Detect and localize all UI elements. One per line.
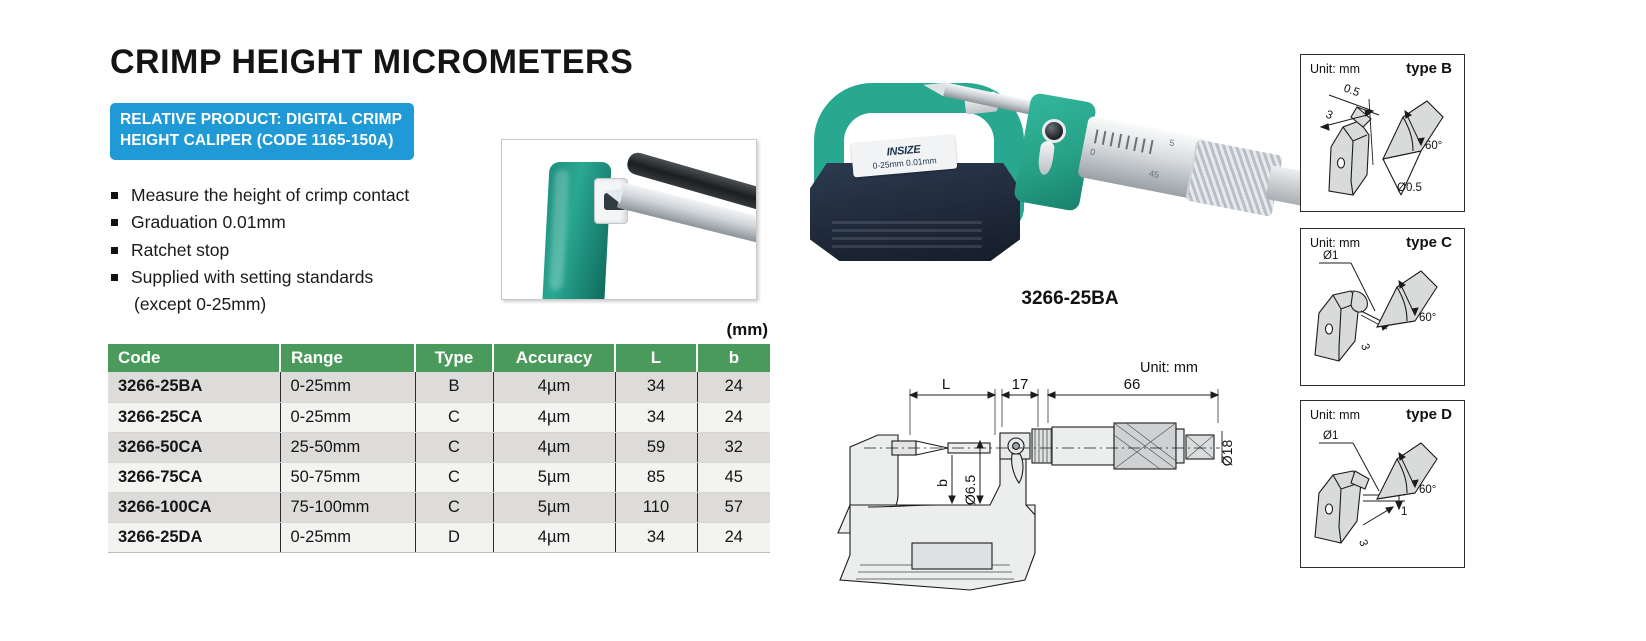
cell-b: 24 bbox=[697, 372, 770, 402]
grip-ridge bbox=[832, 229, 982, 232]
relative-product-badge-line-1: RELATIVE PRODUCT: DIGITAL CRIMP bbox=[120, 110, 402, 131]
table-row: 3266-100CA 75-100mm C 5µm 110 57 bbox=[108, 492, 770, 522]
cell-l: 110 bbox=[615, 492, 697, 522]
dim-label-66: 66 bbox=[1124, 376, 1141, 393]
bullet-square-icon bbox=[111, 247, 118, 254]
cell-b: 24 bbox=[697, 522, 770, 552]
dim-label-b: b bbox=[934, 479, 950, 487]
cell-accuracy: 4µm bbox=[493, 522, 615, 552]
specification-table: Code Range Type Accuracy L b 3266-25BA 0… bbox=[108, 344, 770, 553]
cell-b: 32 bbox=[697, 432, 770, 462]
grip-ridge bbox=[832, 237, 982, 240]
cell-code: 3266-25BA bbox=[108, 372, 280, 402]
dim-label-d65: Ø6.5 bbox=[962, 475, 978, 506]
feature-text: Ratchet stop bbox=[131, 240, 229, 260]
cell-range: 0-25mm bbox=[280, 522, 415, 552]
bullet-square-icon bbox=[111, 274, 118, 281]
cell-b: 57 bbox=[697, 492, 770, 522]
cell-accuracy: 5µm bbox=[493, 462, 615, 492]
type-c-label-0: Ø1 bbox=[1323, 250, 1338, 262]
sleeve-tick-label: 45 bbox=[1148, 168, 1160, 180]
dim-label-L: L bbox=[942, 376, 950, 393]
cell-type: C bbox=[415, 432, 493, 462]
feature-text: Measure the height of crimp contact bbox=[131, 185, 409, 205]
column-header-accuracy: Accuracy bbox=[493, 344, 615, 372]
product-caption: 3266-25BA bbox=[940, 288, 1200, 310]
sleeve-tick-label: 5 bbox=[1168, 138, 1175, 149]
cell-l: 85 bbox=[615, 462, 697, 492]
cell-type: B bbox=[415, 372, 493, 402]
relative-product-badge-line-2: HEIGHT CALIPER (CODE 1165-150A) bbox=[120, 131, 402, 152]
type-d-label-0: Ø1 bbox=[1323, 430, 1338, 442]
type-d-label-1: 60° bbox=[1419, 484, 1436, 496]
dim-label-17: 17 bbox=[1012, 376, 1029, 393]
cell-b: 45 bbox=[697, 462, 770, 492]
table-row: 3266-25CA 0-25mm C 4µm 34 24 bbox=[108, 402, 770, 432]
cell-code: 3266-75CA bbox=[108, 462, 280, 492]
cell-type: C bbox=[415, 492, 493, 522]
cell-l: 34 bbox=[615, 402, 697, 432]
table-row: 3266-25BA 0-25mm B 4µm 34 24 bbox=[108, 372, 770, 402]
cell-accuracy: 4µm bbox=[493, 402, 615, 432]
product-photo-micrometer: INSIZE 0-25mm 0.01mm 0 5 45 bbox=[790, 75, 1310, 290]
cell-code: 3266-100CA bbox=[108, 492, 280, 522]
label-range-graduation: 0-25mm 0.01mm bbox=[872, 155, 937, 171]
cell-type: C bbox=[415, 402, 493, 432]
cell-code: 3266-25CA bbox=[108, 402, 280, 432]
type-b-label-2: 60° bbox=[1425, 140, 1442, 152]
type-c-label-2: 3 bbox=[1358, 342, 1371, 352]
grip-ridge bbox=[832, 221, 982, 224]
grip-ridge bbox=[832, 245, 982, 248]
cell-accuracy: 4µm bbox=[493, 432, 615, 462]
cell-range: 0-25mm bbox=[280, 402, 415, 432]
spec-table-block: (mm) Code Range Type Accuracy L b 3266-2… bbox=[108, 320, 770, 553]
relative-product-badge: RELATIVE PRODUCT: DIGITAL CRIMP HEIGHT C… bbox=[110, 103, 414, 160]
cell-l: 59 bbox=[615, 432, 697, 462]
cell-range: 25-50mm bbox=[280, 432, 415, 462]
type-b-label-1: 3 bbox=[1324, 109, 1334, 123]
micrometer-grip bbox=[810, 163, 1020, 261]
table-row: 3266-25DA 0-25mm D 4µm 34 24 bbox=[108, 522, 770, 552]
page-title: CRIMP HEIGHT MICROMETERS bbox=[110, 45, 790, 81]
column-header-range: Range bbox=[280, 344, 415, 372]
type-b-label-3: Ø0.5 bbox=[1397, 182, 1422, 194]
column-header-code: Code bbox=[108, 344, 280, 372]
cell-code: 3266-25DA bbox=[108, 522, 280, 552]
cell-range: 0-25mm bbox=[280, 372, 415, 402]
type-d-label-3: 1 bbox=[1401, 506, 1407, 518]
table-row: 3266-75CA 50-75mm C 5µm 85 45 bbox=[108, 462, 770, 492]
column-header-l: L bbox=[615, 344, 697, 372]
feature-text: Graduation 0.01mm bbox=[131, 212, 286, 232]
type-diagram-box-b: Unit: mm type B 0.5 3 bbox=[1300, 54, 1465, 212]
cell-accuracy: 4µm bbox=[493, 372, 615, 402]
table-unit-note: (mm) bbox=[108, 320, 770, 340]
crimp-contact-photo bbox=[501, 139, 757, 300]
sleeve-tick-label: 0 bbox=[1089, 147, 1096, 158]
cell-type: D bbox=[415, 522, 493, 552]
type-b-tip-body bbox=[1329, 121, 1369, 195]
type-c-label-1: 60° bbox=[1419, 312, 1436, 324]
cell-code: 3266-50CA bbox=[108, 432, 280, 462]
dimension-drawing: L 17 66 b Ø6.5 Ø18 bbox=[820, 355, 1240, 595]
cell-type: C bbox=[415, 462, 493, 492]
cell-l: 34 bbox=[615, 372, 697, 402]
cell-range: 50-75mm bbox=[280, 462, 415, 492]
cell-accuracy: 5µm bbox=[493, 492, 615, 522]
type-diagram-box-c: Unit: mm type C Ø1 60° 3 bbox=[1300, 228, 1465, 386]
table-row: 3266-50CA 25-50mm C 4µm 59 32 bbox=[108, 432, 770, 462]
column-header-type: Type bbox=[415, 344, 493, 372]
column-header-b: b bbox=[697, 344, 770, 372]
cell-range: 75-100mm bbox=[280, 492, 415, 522]
table-header-row: Code Range Type Accuracy L b bbox=[108, 344, 770, 372]
bullet-square-icon bbox=[111, 192, 118, 199]
dim-label-d18: Ø18 bbox=[1219, 440, 1235, 467]
cell-b: 24 bbox=[697, 402, 770, 432]
bullet-square-icon bbox=[111, 219, 118, 226]
feature-text: Supplied with setting standards bbox=[131, 267, 373, 287]
micrometer-lock-screw bbox=[1042, 119, 1066, 143]
type-d-label-2: 3 bbox=[1356, 538, 1369, 548]
cell-l: 34 bbox=[615, 522, 697, 552]
type-diagram-box-d: Unit: mm type D Ø1 1 3 bbox=[1300, 400, 1465, 568]
type-b-label-0: 0.5 bbox=[1342, 83, 1361, 100]
